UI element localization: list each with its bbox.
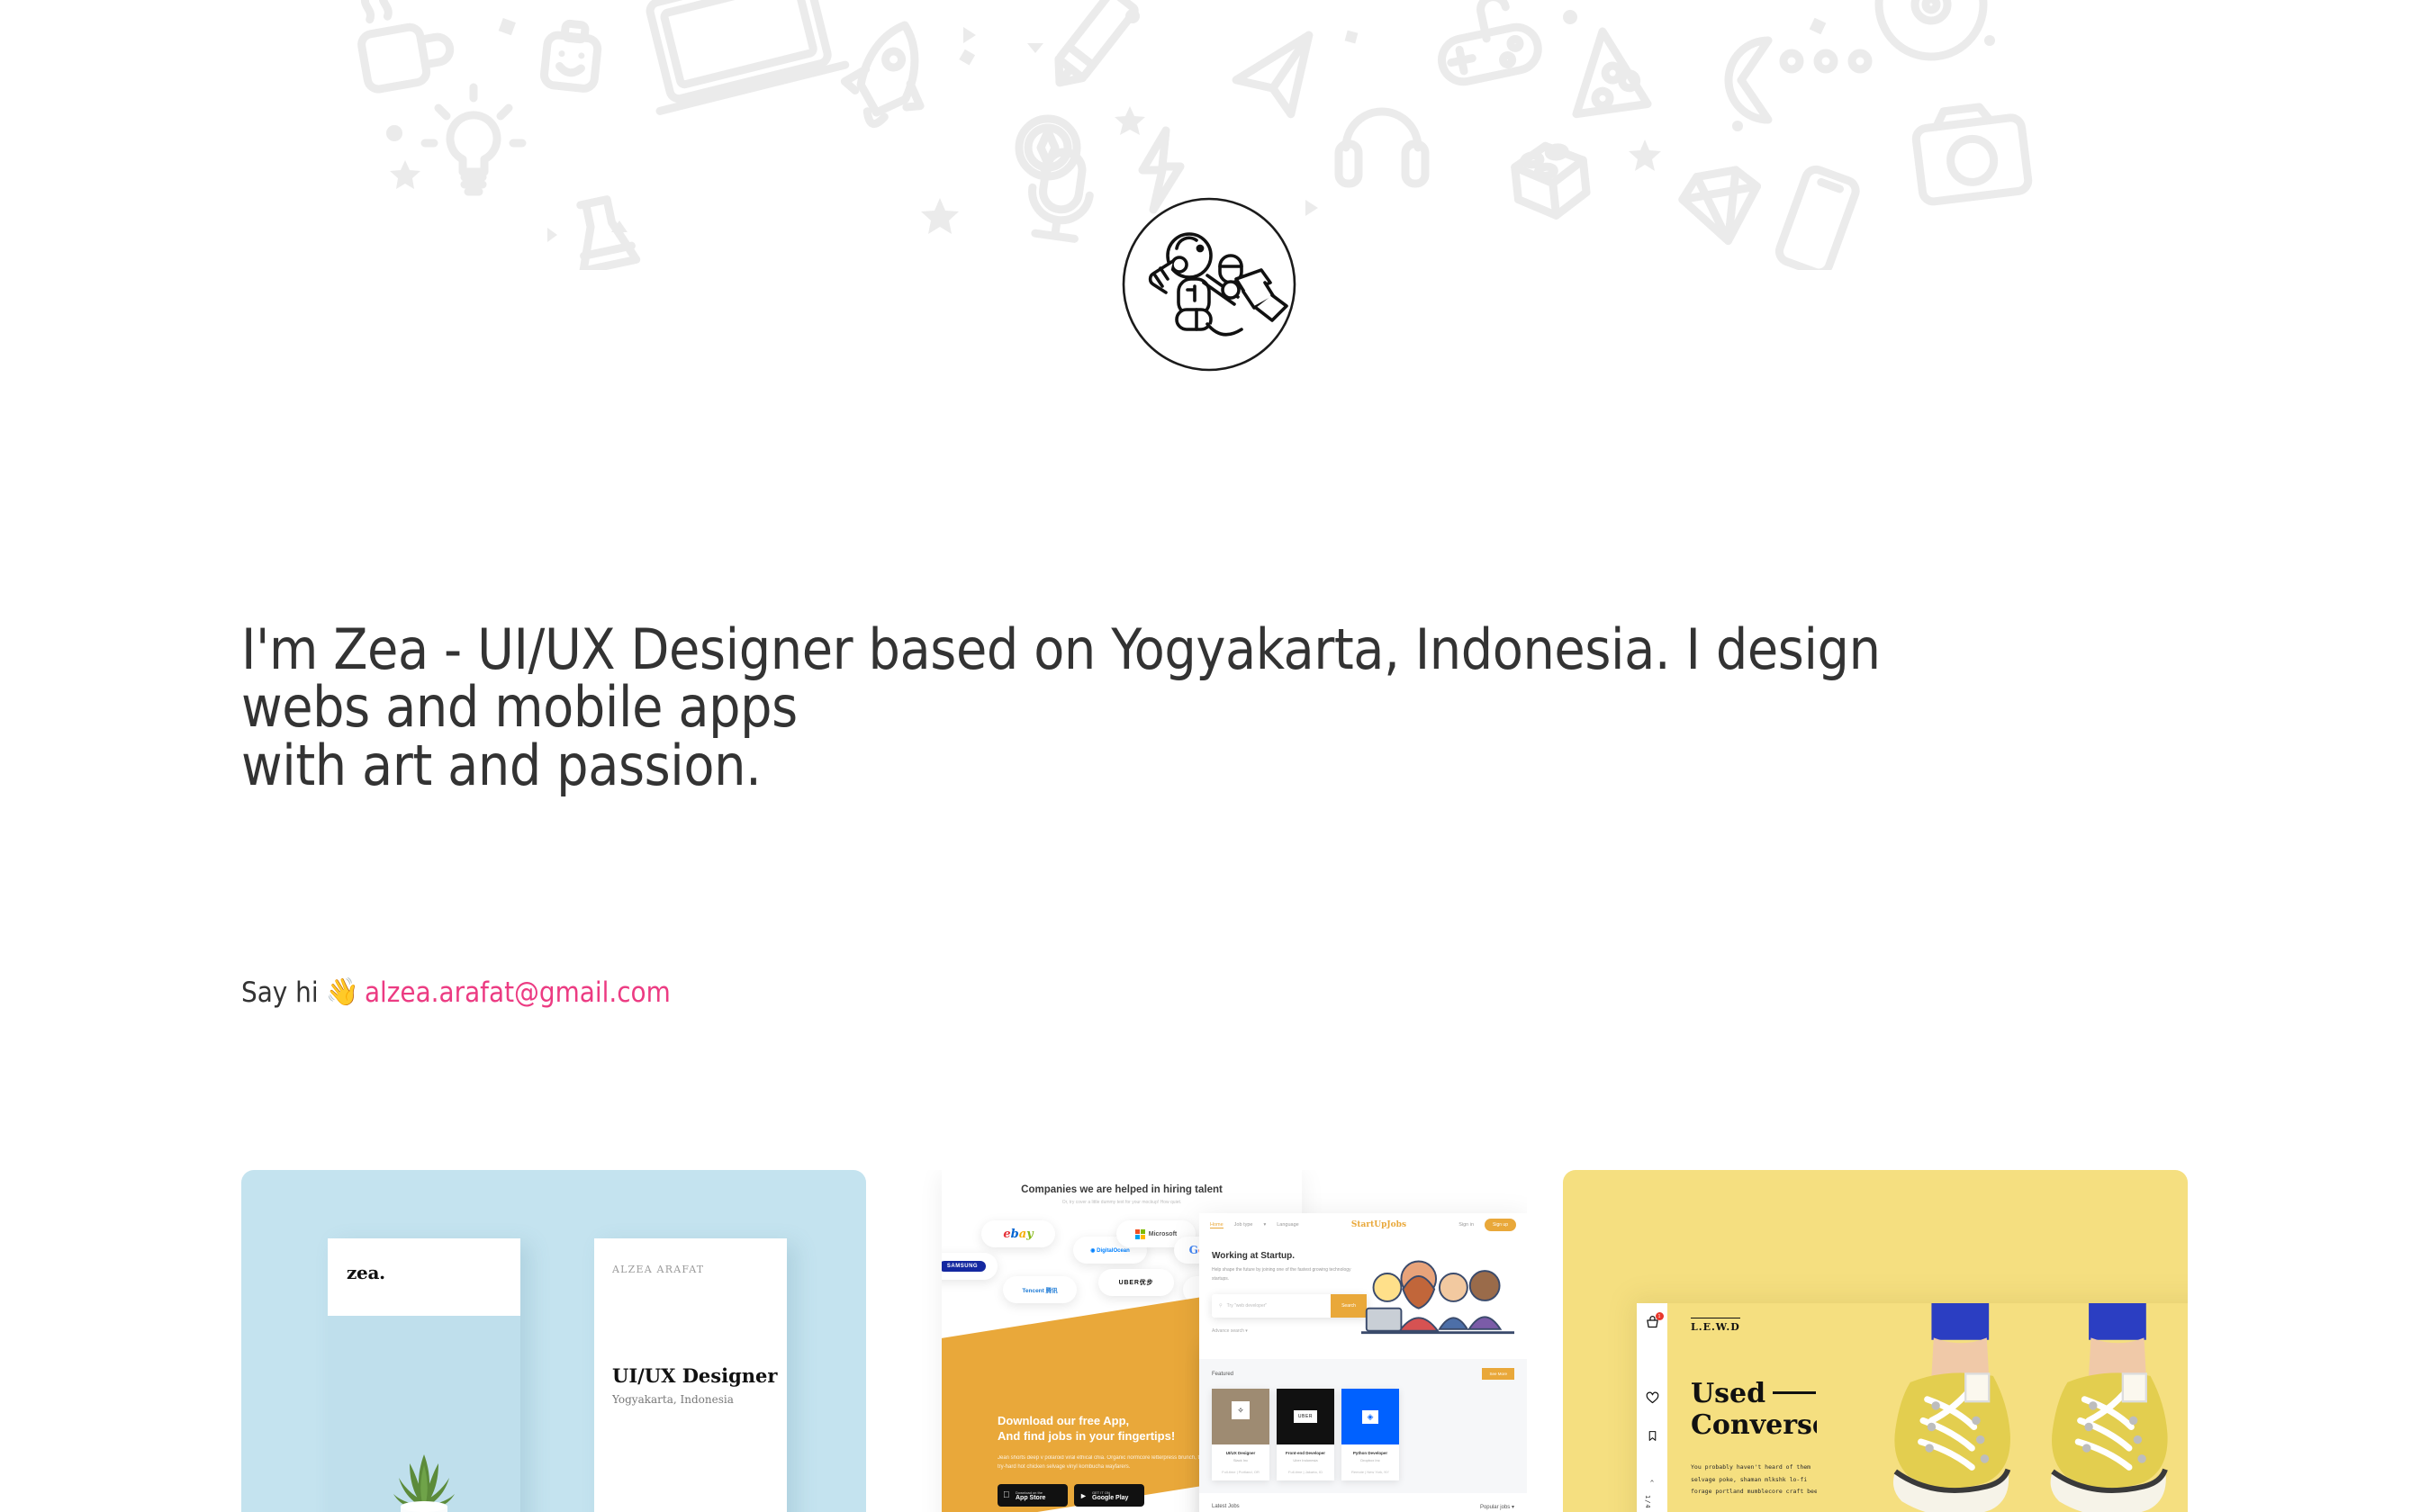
site-navbar: Home Job type ▾ Language StartUpJobs Sig… — [1199, 1213, 1527, 1237]
team-illustration — [1361, 1251, 1514, 1348]
laptop-icon — [634, 0, 844, 111]
side-rail: 1 ^ 1/4 ∨ — [1637, 1303, 1667, 1512]
jobboard-hero-body: Help shape the future by joining one of … — [1212, 1266, 1356, 1283]
app-download-content: Download our free App, And find jobs in … — [998, 1413, 1223, 1507]
google-play-badge[interactable]: ► GET IT ON Google Play — [1074, 1484, 1144, 1507]
search-icon: ⚲ — [1219, 1303, 1223, 1309]
nav-jobtype[interactable]: Job type — [1234, 1222, 1253, 1228]
camera-icon — [1913, 103, 2029, 203]
card-person-name: ALZEA ARAFAT — [612, 1264, 769, 1275]
cart-icon[interactable]: 1 — [1646, 1316, 1659, 1334]
company-logo-ebay: ebay — [981, 1220, 1055, 1247]
company-logo-uber: UBER优步 — [1098, 1269, 1174, 1296]
lewd-brand-logo: L.E.W.D — [1691, 1318, 1740, 1333]
lego-head-icon — [543, 22, 600, 89]
wave-icon: 👋 — [326, 979, 359, 1006]
app-store-badge[interactable]:  Download on the App Store — [998, 1484, 1068, 1507]
lewd-product-page: 1 ^ 1/4 ∨ — [1637, 1303, 2188, 1512]
compass-icon — [1019, 119, 1077, 176]
portfolio-card-grid: zea. — [241, 1170, 2188, 1512]
chevron-up-icon[interactable]: ^ — [1644, 1480, 1660, 1487]
download-body: Jean shorts deep v polaroid viral ethica… — [998, 1453, 1223, 1471]
contact-row: Say hi 👋 alzea.arafat@gmail.com — [241, 976, 671, 1009]
nav-language[interactable]: Language — [1277, 1222, 1298, 1228]
dot-icon — [1783, 53, 1868, 69]
featured-bar: Featured See More — [1199, 1359, 1527, 1389]
dot-icon — [386, 9, 1995, 141]
lightbulb-icon — [425, 87, 522, 192]
job-card[interactable]: ✧ UI/UX Designer Slack Inc Full-time | P… — [1212, 1389, 1269, 1480]
job-search-input[interactable]: ⚲ Try "web developer" Search — [1212, 1294, 1367, 1318]
pizza-icon — [1576, 31, 1662, 130]
nav-home[interactable]: Home — [1210, 1222, 1224, 1228]
search-placeholder: Try "web developer" — [1227, 1303, 1268, 1309]
job-card[interactable]: UBER Front-end Developer Uber Indonesia … — [1277, 1389, 1334, 1480]
astronaut-logo-icon[interactable] — [1121, 196, 1297, 373]
headphones-icon — [1339, 112, 1425, 184]
heart-icon[interactable] — [1646, 1391, 1659, 1409]
rocket-icon — [835, 13, 943, 136]
cd-icon — [1879, 0, 1983, 57]
sign-in-link[interactable]: Sign in — [1458, 1222, 1474, 1228]
download-heading: Download our free App, And find jobs in … — [998, 1413, 1223, 1444]
see-more-button[interactable]: See More — [1482, 1368, 1514, 1380]
advance-search-toggle[interactable]: Advance search ▾ — [1212, 1328, 1356, 1334]
featured-label: Featured — [1212, 1372, 1233, 1377]
latest-jobs-bar: Latest Jobs Popular jobs ▾ — [1199, 1493, 1527, 1512]
lego-brick-icon — [1513, 142, 1589, 220]
popular-jobs-filter[interactable]: Popular jobs ▾ — [1480, 1504, 1514, 1510]
star-icon — [390, 106, 1661, 234]
portfolio-page: I'm Zea - UI/UX Designer based on Yogyak… — [0, 0, 2420, 1512]
jobboard-hero-heading: Working at Startup. — [1212, 1251, 1356, 1261]
startupjobs-jobboard-page: Home Job type ▾ Language StartUpJobs Sig… — [1199, 1213, 1527, 1512]
phone-icon — [1776, 166, 1858, 270]
brand-logo-text: zea. — [347, 1262, 385, 1283]
page-number: 1/4 — [1644, 1495, 1651, 1509]
email-link[interactable]: alzea.arafat@gmail.com — [365, 976, 671, 1009]
converse-shoes-photo — [1817, 1303, 2188, 1512]
portfolio-card-business-card[interactable]: zea. — [241, 1170, 866, 1512]
company-logo-samsung: SAMSUNG — [942, 1253, 998, 1280]
heading-dash — [1773, 1391, 1816, 1394]
contact-label: Say hi — [241, 976, 319, 1009]
bookmark-icon[interactable] — [1647, 1429, 1658, 1447]
uber-icon: UBER — [1294, 1410, 1317, 1423]
portfolio-card-startupjobs[interactable]: Companies we are helped in hiring talent… — [902, 1170, 1527, 1512]
page-title: I'm Zea - UI/UX Designer based on Yogyak… — [241, 621, 2024, 795]
diamond-icon — [1679, 166, 1765, 247]
card-location: Yogyakarta, Indonesia — [612, 1393, 734, 1406]
microphone-icon — [1026, 148, 1095, 240]
cart-badge: 1 — [1656, 1312, 1664, 1320]
flask-icon — [570, 196, 637, 270]
featured-jobs-list: ✧ UI/UX Designer Slack Inc Full-time | P… — [1199, 1389, 1527, 1480]
product-description: You probably haven't heard of them selva… — [1691, 1462, 1829, 1498]
job-card[interactable]: ◈ Python Developer Dropbox Inc Remote | … — [1341, 1389, 1399, 1480]
latest-jobs-label: Latest Jobs — [1212, 1504, 1240, 1510]
dropbox-icon: ◈ — [1362, 1410, 1379, 1424]
business-card-back: ALZEA ARAFAT UI/UX Designer Yogyakarta, … — [594, 1238, 787, 1512]
slack-icon: ✧ — [1232, 1401, 1250, 1419]
mug-icon — [353, 0, 455, 91]
card-role: UI/UX Designer — [612, 1364, 777, 1387]
hero-section: I'm Zea - UI/UX Designer based on Yogyak… — [241, 621, 2186, 795]
companies-subtitle: Or, try cover a little dummy text for yo… — [942, 1200, 1302, 1205]
plant-photo — [328, 1316, 520, 1512]
paper-plane-icon — [1233, 35, 1314, 118]
portfolio-card-lewd[interactable]: 1 ^ 1/4 ∨ — [1563, 1170, 2188, 1512]
pacman-icon — [1729, 40, 1768, 120]
pencil-icon — [1048, 0, 1136, 92]
pagination-indicator[interactable]: ^ 1/4 ∨ — [1644, 1480, 1660, 1512]
site-brand: StartUpJobs — [1351, 1220, 1406, 1229]
company-logo-tencent: Tencent 腾讯 — [1003, 1276, 1077, 1303]
companies-title: Companies we are helped in hiring talent — [942, 1184, 1302, 1195]
gamepad-icon — [1431, 0, 1542, 85]
square-icon — [499, 18, 1827, 66]
succulent-plant-icon — [370, 1442, 478, 1512]
business-card-front: zea. — [328, 1238, 520, 1512]
chevron-down-icon: ▾ — [1263, 1222, 1266, 1228]
sign-up-button[interactable]: Sign up — [1485, 1219, 1516, 1231]
